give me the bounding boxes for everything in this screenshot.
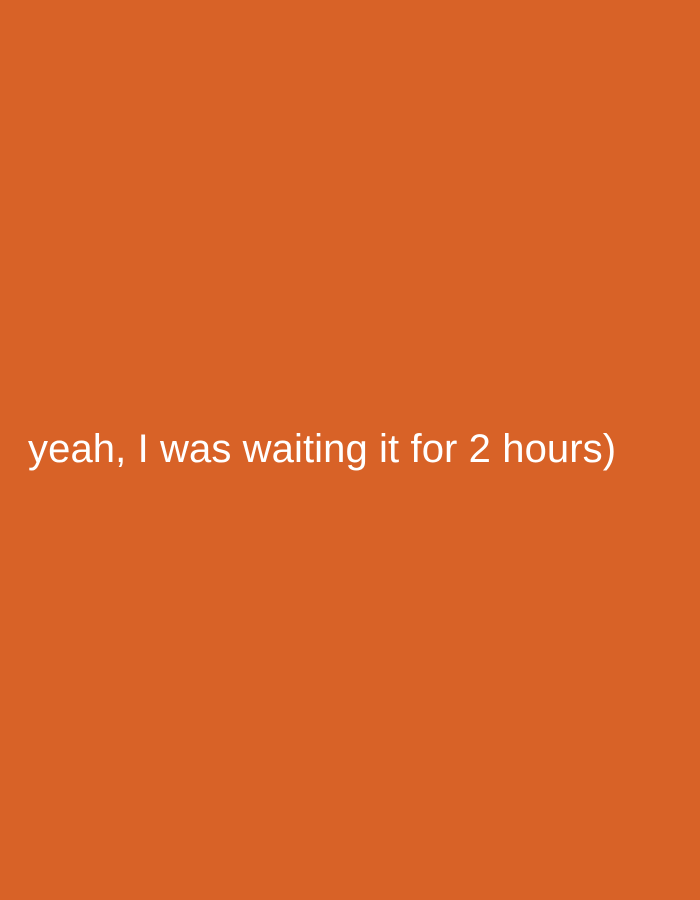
caption-card: yeah, I was waiting it for 2 hours)	[0, 0, 700, 900]
caption-text: yeah, I was waiting it for 2 hours)	[0, 426, 700, 473]
